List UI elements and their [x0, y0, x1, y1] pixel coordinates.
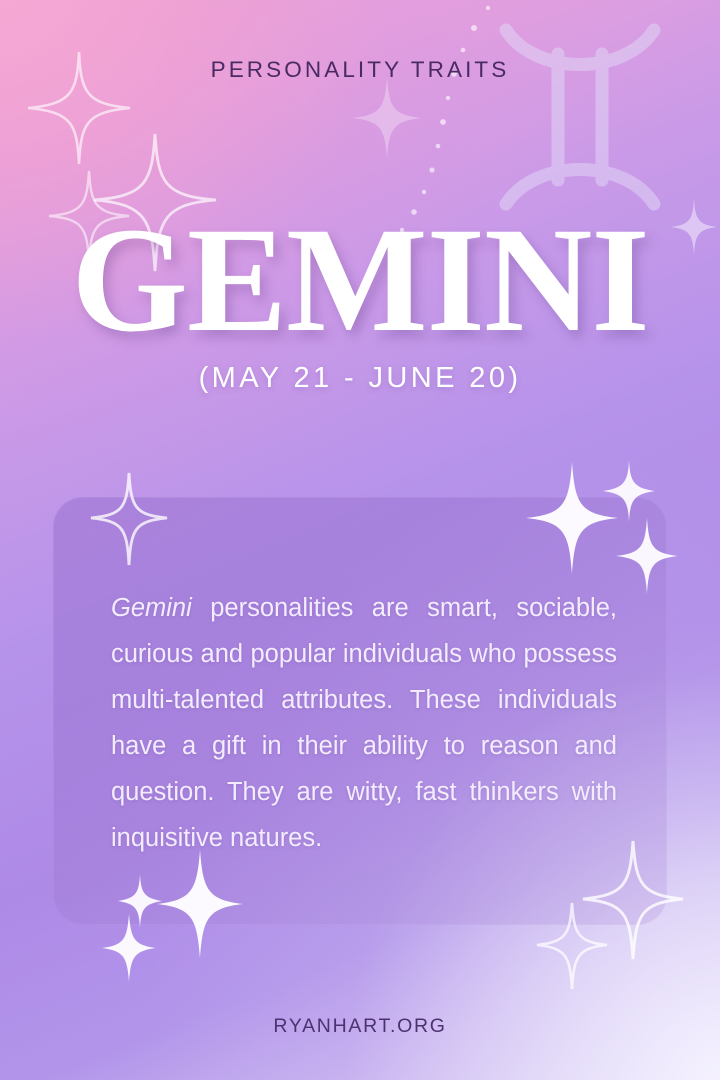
sparkle-filled-header [350, 75, 424, 161]
page-title: GEMINI [0, 205, 720, 355]
description-card: Gemini personalities are smart, sociable… [53, 497, 667, 925]
description-rest: personalities are smart, sociable, curio… [111, 594, 617, 852]
eyebrow-label: PERSONALITY TRAITS [0, 57, 720, 83]
gemini-zodiac-icon [496, 14, 664, 220]
description-text: Gemini personalities are smart, sociable… [111, 585, 617, 861]
zodiac-poster: PERSONALITY TRAITS GEMINI (MAY 21 - JUNE… [0, 0, 720, 1080]
date-range-label: (MAY 21 - JUNE 20) [0, 362, 720, 395]
footer-url: RYANHART.ORG [0, 1015, 720, 1038]
description-lead: Gemini [111, 594, 192, 622]
